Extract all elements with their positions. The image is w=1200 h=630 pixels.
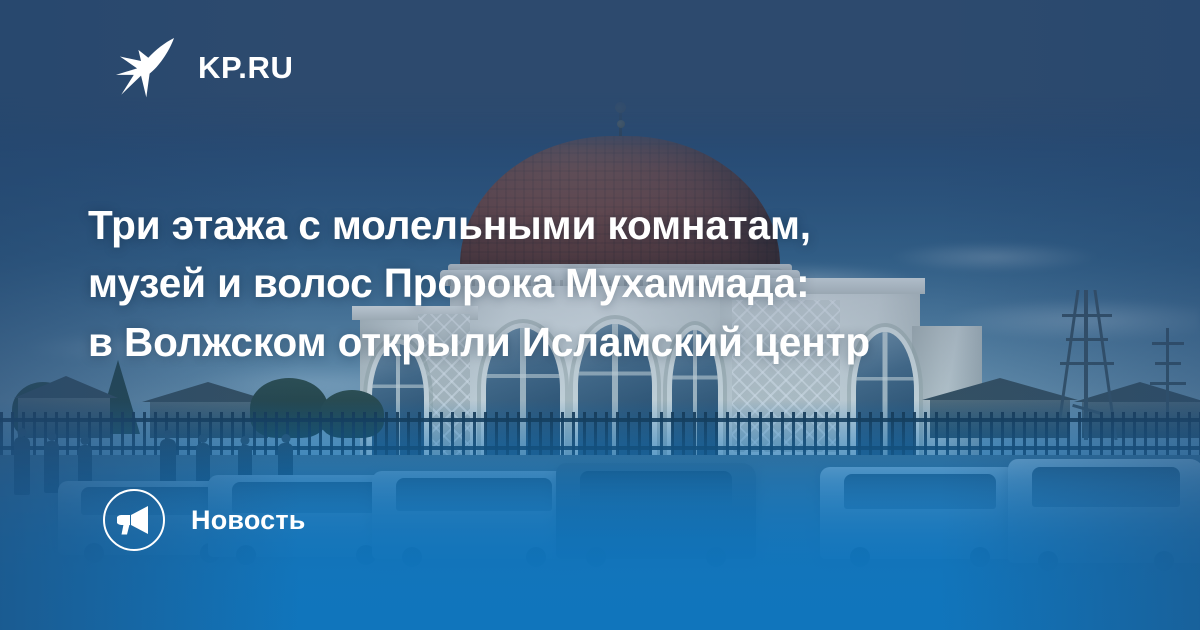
headline-line-3: в Волжском открыли Исламский центр	[88, 313, 1098, 371]
headline-line-1: Три этажа с молельными комнатам,	[88, 196, 1098, 254]
swallow-bird-icon	[112, 34, 178, 100]
brand-logo[interactable]: KP.RU	[112, 34, 293, 100]
megaphone-icon	[103, 489, 165, 551]
social-share-card: KP.RU Три этажа с молельными комнатам, м…	[0, 0, 1200, 630]
card-content: KP.RU Три этажа с молельными комнатам, м…	[0, 0, 1200, 630]
news-badge[interactable]: Новость	[103, 489, 306, 551]
brand-name: KP.RU	[198, 52, 293, 83]
headline: Три этажа с молельными комнатам, музей и…	[88, 196, 1098, 371]
news-badge-label: Новость	[191, 507, 306, 534]
headline-line-2: музей и волос Пророка Мухаммада:	[88, 254, 1098, 312]
